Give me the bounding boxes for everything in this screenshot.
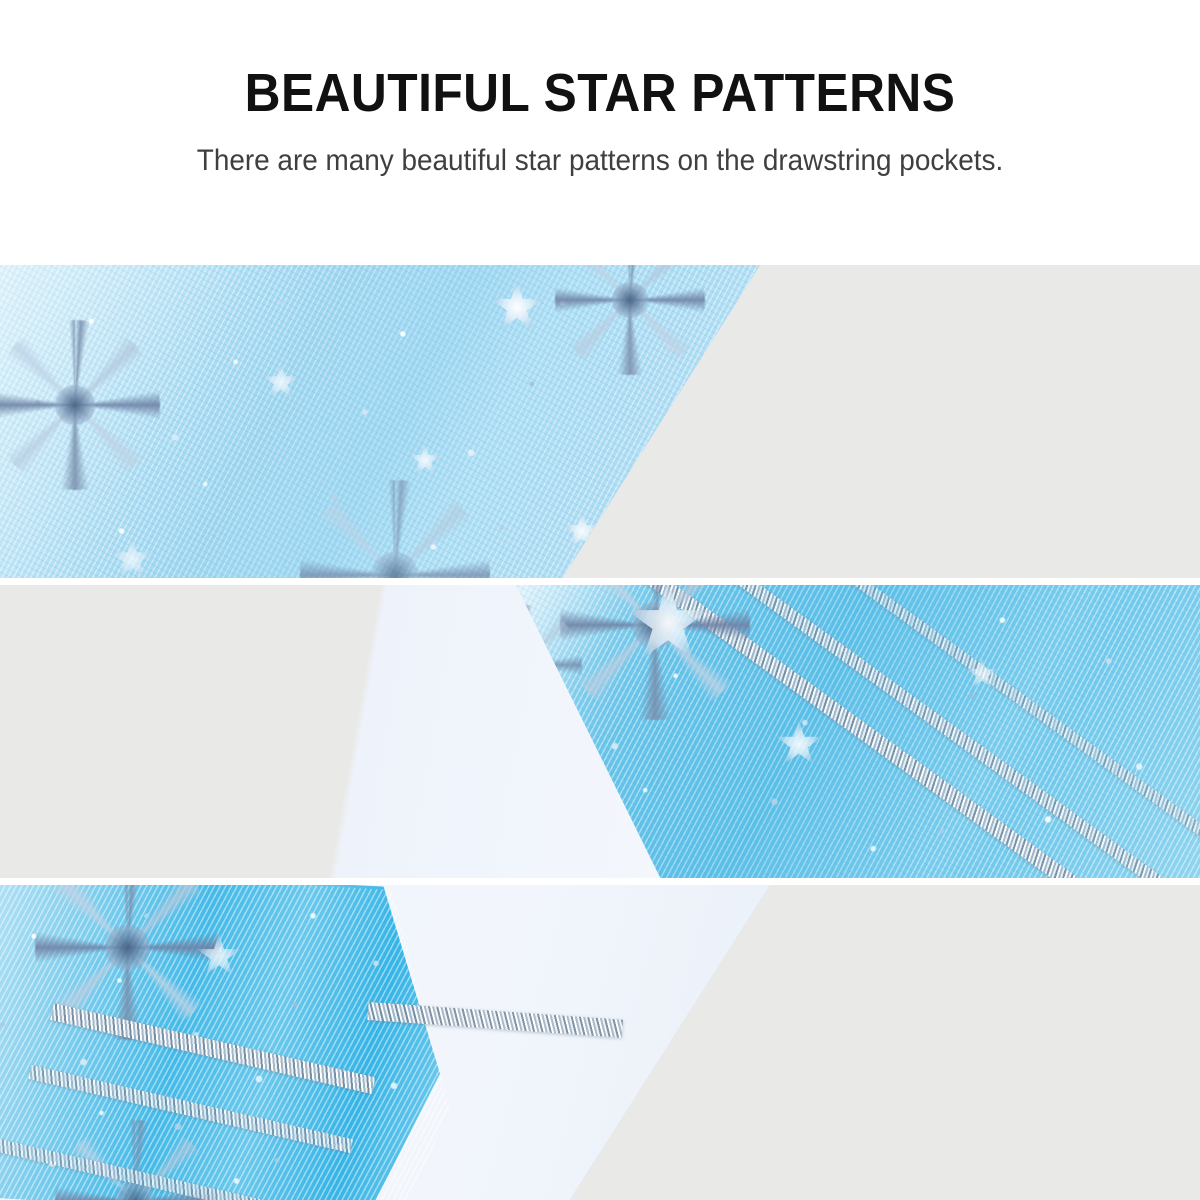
header-band: BEAUTIFUL STAR PATTERNS There are many b… (0, 0, 1200, 265)
row-divider (0, 578, 1200, 585)
feature-row-3: 3 ECO-FRIENDLY (0, 885, 1200, 1200)
feature-row-2: 2 DRAWSTRING (0, 585, 1200, 878)
page-title: BEAUTIFUL STAR PATTERNS (48, 62, 1152, 124)
row-divider (0, 878, 1200, 885)
page-subtitle: There are many beautiful star patterns o… (42, 144, 1158, 178)
infographic-page: BEAUTIFUL STAR PATTERNS There are many b… (0, 0, 1200, 1200)
feature-row-1: 1 STAR PATTERNS (0, 265, 1200, 578)
